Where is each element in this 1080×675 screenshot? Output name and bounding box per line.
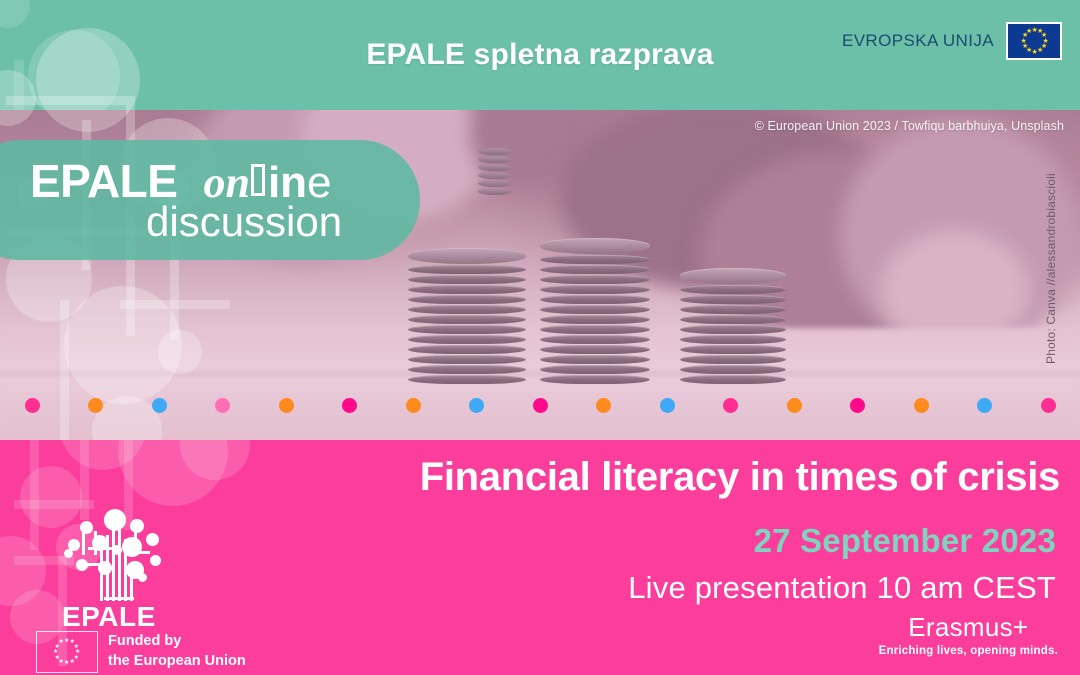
tree-branch-line	[88, 547, 116, 550]
tree-branch-line	[100, 575, 103, 601]
decorative-dot	[787, 398, 802, 413]
decorative-dot	[215, 398, 230, 413]
epale-wordmark: EPALE	[62, 601, 156, 633]
decorative-dot	[152, 398, 167, 413]
tree-node-circle	[64, 549, 73, 558]
tree-branch-line	[112, 519, 115, 601]
eu-star-icon: ★	[1021, 39, 1026, 44]
coin	[680, 335, 786, 344]
coin	[680, 305, 786, 314]
decorative-dot	[533, 398, 548, 413]
eu-star-icon: ★	[64, 639, 68, 643]
tree-branch-line	[104, 597, 134, 600]
coin	[408, 315, 526, 324]
coin	[408, 248, 526, 264]
coin	[540, 335, 650, 344]
decorative-dot	[660, 398, 675, 413]
coin	[540, 285, 650, 294]
coin	[540, 325, 650, 334]
eu-star-icon: ★	[1032, 28, 1037, 33]
coin	[478, 164, 512, 171]
coin	[408, 275, 526, 284]
coin	[540, 255, 650, 264]
eu-star-icon: ★	[54, 645, 58, 649]
coin	[540, 275, 650, 284]
tree-node-circle	[150, 555, 161, 566]
funded-by-text: Funded by the European Union	[108, 631, 246, 671]
coin	[540, 315, 650, 324]
tree-branch-line	[124, 539, 127, 601]
coin	[540, 238, 650, 254]
funded-line-2: the European Union	[108, 651, 246, 671]
coin	[408, 325, 526, 334]
pill-l-box-glyph	[251, 164, 265, 196]
eu-star-icon: ★	[70, 660, 74, 664]
eu-star-icon: ★	[75, 650, 79, 654]
coin	[408, 285, 526, 294]
tree-node-circle	[130, 519, 144, 533]
coin	[680, 285, 786, 294]
decorative-dot	[469, 398, 484, 413]
erasmus-tagline: Enriching lives, opening minds.	[879, 645, 1058, 657]
photo-credit-side: Photo: Canva //alessandrobiascioli	[1044, 174, 1058, 364]
eu-star-icon: ★	[1026, 29, 1031, 34]
erasmus-plus-logo: Erasmus+ Enriching lives, opening minds.	[879, 612, 1058, 657]
coin	[680, 355, 786, 364]
coin	[478, 180, 512, 187]
coin	[680, 365, 786, 374]
coin	[408, 305, 526, 314]
tree-node-circle	[146, 533, 159, 546]
coin	[540, 365, 650, 374]
eu-flag-icon: ★★★★★★★★★★★★	[1006, 22, 1062, 60]
coin-in-hand	[478, 148, 512, 194]
funded-line-1: Funded by	[108, 631, 246, 651]
tree-branch-line	[124, 551, 150, 554]
coin	[540, 345, 650, 354]
photo-credit-top: © European Union 2023 / Towfiqu barbhuiy…	[755, 119, 1064, 133]
coin-stack	[540, 238, 650, 385]
decorative-dot	[342, 398, 357, 413]
eu-star-icon: ★	[59, 640, 63, 644]
tree-branch-line	[80, 563, 100, 566]
event-title: Financial literacy in times of crisis	[0, 455, 1060, 500]
decorative-dot	[914, 398, 929, 413]
coin	[680, 268, 786, 284]
eu-star-icon: ★	[64, 661, 68, 665]
tree-node-circle	[104, 509, 126, 531]
decorative-dot-row	[0, 392, 1080, 418]
coin	[540, 295, 650, 304]
eu-star-icon: ★	[74, 645, 78, 649]
coin	[540, 305, 650, 314]
eu-flag-outline-icon: ★★★★★★★★★★★★	[36, 631, 98, 673]
decorative-dot	[88, 398, 103, 413]
tree-branch-line	[106, 535, 109, 601]
coin-stack	[680, 268, 786, 385]
coin	[478, 172, 512, 179]
decorative-dot	[406, 398, 421, 413]
coin	[680, 375, 786, 384]
coin	[540, 355, 650, 364]
eu-star-icon: ★	[54, 656, 58, 660]
coin	[680, 295, 786, 304]
decorative-dot	[25, 398, 40, 413]
pill-text-group: EPALE on in e discussion	[0, 140, 420, 260]
decorative-dot	[977, 398, 992, 413]
coin	[540, 375, 650, 384]
coin	[408, 375, 526, 384]
coin	[408, 295, 526, 304]
coin	[478, 148, 512, 155]
eu-star-icon: ★	[1022, 44, 1027, 49]
eu-label: EVROPSKA UNIJA	[842, 31, 994, 51]
coin	[680, 345, 786, 354]
decorative-dot	[279, 398, 294, 413]
tree-branch-line	[134, 527, 137, 551]
coin	[680, 325, 786, 334]
coin	[408, 335, 526, 344]
epale-online-discussion-pill: EPALE on in e discussion	[0, 140, 420, 260]
poster-canvas: EPALE spletna razprava EVROPSKA UNIJA ★★…	[0, 0, 1080, 675]
eu-star-icon: ★	[53, 650, 57, 654]
tree-node-circle	[138, 573, 147, 582]
coin	[478, 156, 512, 163]
coin	[408, 365, 526, 374]
eu-emblem-block: EVROPSKA UNIJA ★★★★★★★★★★★★	[842, 22, 1062, 60]
epale-tree-icon	[64, 505, 174, 601]
coin	[680, 315, 786, 324]
tree-branch-line	[94, 531, 97, 555]
coin	[478, 188, 512, 195]
eu-star-icon: ★	[1032, 50, 1037, 55]
decorative-dot	[1041, 398, 1056, 413]
decorative-dot	[850, 398, 865, 413]
coin	[540, 265, 650, 274]
coin	[408, 265, 526, 274]
erasmus-name: Erasmus+	[879, 612, 1058, 643]
epale-logo-block: EPALE ★★★★★★★★★★★★ Funded by the Europea…	[36, 505, 276, 665]
pill-discussion-word: discussion	[146, 198, 342, 246]
decorative-dot	[723, 398, 738, 413]
coin	[408, 355, 526, 364]
coin-stack	[408, 248, 526, 385]
decorative-dot	[596, 398, 611, 413]
coin	[408, 345, 526, 354]
tree-branch-line	[118, 529, 121, 601]
tree-branch-line	[82, 529, 85, 555]
